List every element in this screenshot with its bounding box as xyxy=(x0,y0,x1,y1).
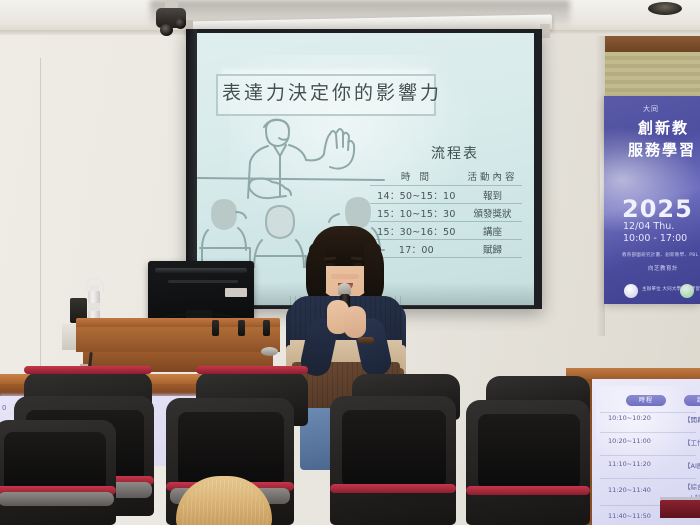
banner-logo-icon-1 xyxy=(624,284,638,298)
schedule-col-activity: 活動內容 xyxy=(463,169,522,186)
seat-trim xyxy=(24,366,152,374)
monitor-light-bar xyxy=(155,268,247,273)
agenda-rule xyxy=(600,432,696,433)
table-row: 14：50~15：10 報到 xyxy=(370,186,522,204)
seat-trim xyxy=(466,486,590,495)
row-activity: 報到 xyxy=(463,186,522,204)
schedule-col-time: 時 間 xyxy=(370,169,463,186)
agenda-row-activity: 【工作 xyxy=(684,437,700,447)
seat-back-pad xyxy=(478,414,580,490)
agenda-rule xyxy=(600,412,696,413)
schedule-header-row: 時 間 活動內容 xyxy=(370,169,522,186)
agenda-row-time: 11:10~11:20 xyxy=(608,460,651,468)
agenda-col-header-time: 時程 xyxy=(626,395,666,406)
agenda-row-time: 11:20~11:40 xyxy=(608,486,651,494)
agenda-row-activity: 【開幕 xyxy=(684,414,700,424)
bottle-label xyxy=(88,303,100,311)
seat-trim xyxy=(330,484,456,493)
speaker-wristband xyxy=(358,337,374,344)
microphone-stand-icon xyxy=(212,320,219,336)
banner-logo-caption: 主辦單位 大同大學服務學習 大同大學通識教育中心 xyxy=(642,286,700,292)
lectern-side-panel xyxy=(62,324,77,350)
banner-time: 10:00 - 17:00 xyxy=(623,233,687,244)
monitor-strip xyxy=(168,280,238,283)
banner-organizer: 向芝教育計 xyxy=(648,264,678,272)
lectern-top xyxy=(76,318,280,327)
table-row: 17：00 賦歸 xyxy=(370,240,522,258)
speaker-cheek-shading xyxy=(331,274,359,279)
agenda-rule xyxy=(600,455,696,456)
speaker-eye-left xyxy=(326,263,335,266)
bottle-cap xyxy=(89,285,99,291)
speaker-eye-right xyxy=(353,263,362,266)
window-frame-top xyxy=(604,36,700,52)
agenda-col-header-topic: 議程 xyxy=(684,395,700,406)
schedule-heading: 流程表 xyxy=(388,143,522,163)
agenda-row-activity: 【AI應 xyxy=(684,460,700,470)
lectern-body xyxy=(76,327,280,352)
row-activity: 頒發獎狀 xyxy=(463,204,522,222)
lecture-hall-photo: 大同 創新教 服務學習 2025 12/04 Thu. 10:00 - 17:0… xyxy=(0,0,700,525)
speaker-hand-right xyxy=(344,306,366,338)
row-time: 14：50~15：10 xyxy=(370,186,463,204)
seat-back-pad xyxy=(342,410,446,488)
counter-top xyxy=(566,368,700,379)
row-time: 17：00 xyxy=(370,240,463,258)
seat-back-pad xyxy=(178,412,284,486)
agenda-row-time: 10:10~10:20 xyxy=(608,414,651,422)
banner-title-line2: 服務學習 xyxy=(628,139,696,160)
ceiling-light-icon xyxy=(648,2,682,15)
wall-seam xyxy=(40,58,41,388)
row-activity: 賦歸 xyxy=(463,240,522,258)
agenda-row-activity: 【綜合 xyxy=(684,481,700,491)
agenda-rule xyxy=(600,478,696,479)
left-poster-text: 0 xyxy=(2,404,7,412)
speaker-hair-left xyxy=(309,243,326,299)
monitor-label xyxy=(225,288,247,297)
window-blind xyxy=(604,52,700,102)
seat-trim xyxy=(196,366,308,374)
seat-back-pad xyxy=(4,432,106,492)
desk-object xyxy=(261,347,278,356)
slide-title: 表達力決定你的影響力 xyxy=(222,79,428,107)
row-time: 15：10~15：30 xyxy=(370,204,463,222)
row-time: 15：30~16：50 xyxy=(370,222,463,240)
camera-lens-icon xyxy=(175,18,186,29)
schedule-table: 時 間 活動內容 14：50~15：10 報到 15：10~15：30 頒發獎狀… xyxy=(370,169,522,258)
poster-base-block xyxy=(660,500,700,518)
agenda-row-time: 10:20~11:00 xyxy=(608,437,651,445)
speaker-hair-right xyxy=(364,243,381,299)
agenda-row-time: 11:40~11:50 xyxy=(608,512,651,520)
row-activity: 講座 xyxy=(463,222,522,240)
table-row: 15：10~15：30 頒發獎狀 xyxy=(370,204,522,222)
projector-lens-icon xyxy=(160,24,173,36)
banner-note: 教育部國研究計畫、創新教學、PBL xyxy=(622,252,698,258)
table-row: 15：30~16：50 講座 xyxy=(370,222,522,240)
banner-year: 2025 xyxy=(622,195,693,223)
microphone-stand-icon xyxy=(238,320,245,336)
banner-date: 12/04 Thu. xyxy=(623,221,674,232)
seat-armrest xyxy=(0,492,114,506)
slide-schedule: 流程表 時 間 活動內容 14：50~15：10 報到 15：10~15：30 … xyxy=(370,143,522,258)
banner-top-text: 大同 xyxy=(643,104,659,114)
banner-title-line1: 創新教 xyxy=(638,117,689,138)
microphone-stand-icon xyxy=(263,320,270,336)
